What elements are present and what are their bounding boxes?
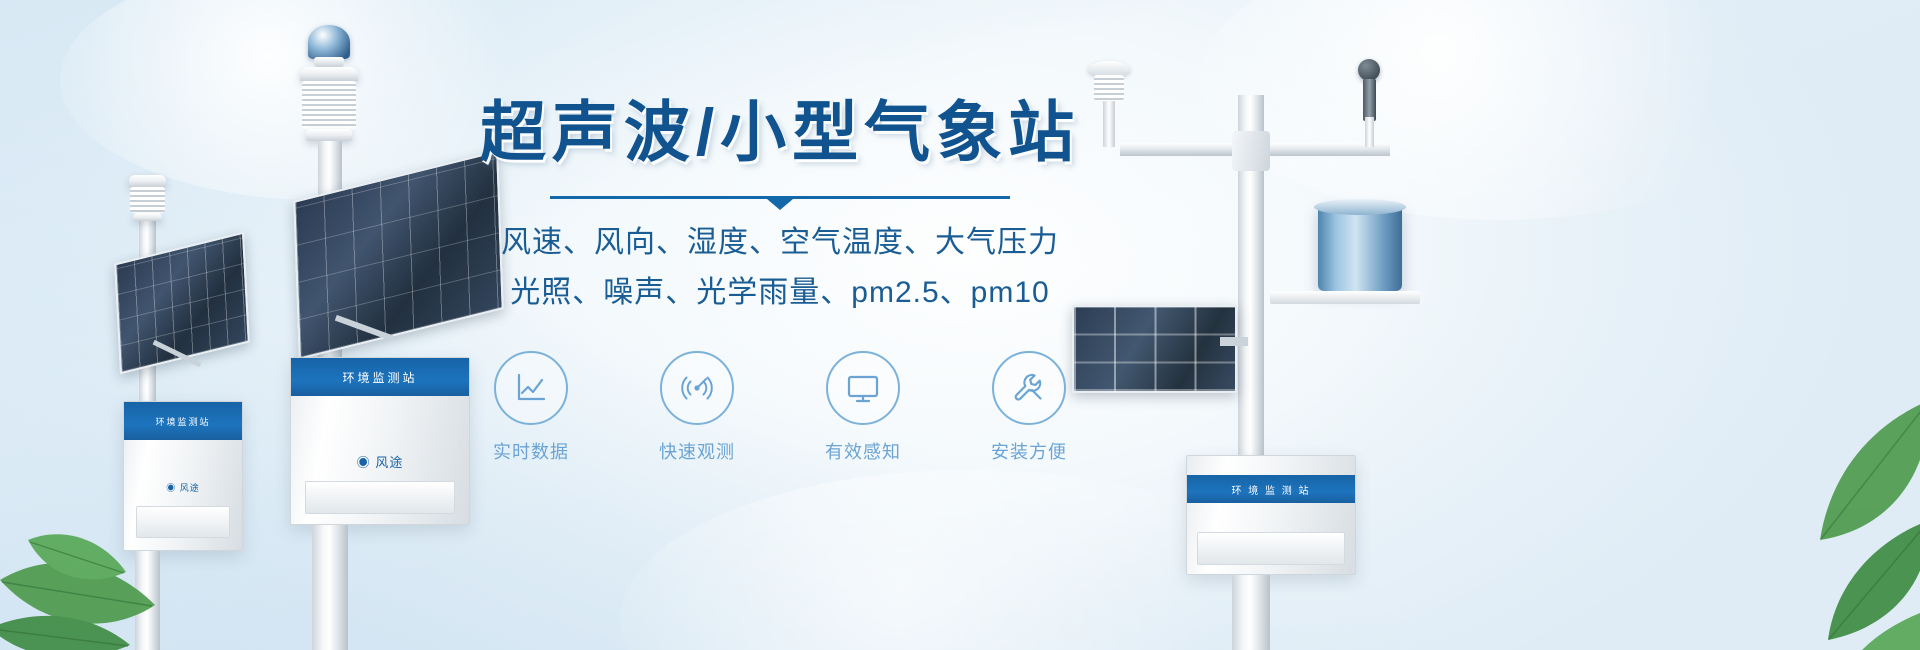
cabinet-label-text: 环境监测站	[155, 415, 210, 428]
radiation-shield-cap	[300, 67, 358, 81]
feature-list: 实时数据 快速观测	[430, 351, 1130, 464]
leaf-decoration-right	[1630, 370, 1920, 650]
chevron-down-triangle-icon	[767, 199, 793, 210]
feature-label: 安装方便	[974, 438, 1084, 464]
radiation-shield-louvers	[302, 81, 356, 129]
cabinet-lower-panel	[136, 506, 230, 539]
feature-label: 实时数据	[476, 438, 586, 464]
cabinet-enclosure: 环境监测站 ◉ 风途	[123, 401, 243, 551]
mast-foot	[312, 525, 348, 650]
radiation-shield-head	[129, 175, 166, 187]
product-banner: 环境监测站 ◉ 风途 环境监测站 ◉	[0, 0, 1920, 650]
feature-item-fast-observation[interactable]: 快速观测	[642, 351, 752, 464]
feature-item-easy-installation[interactable]: 安装方便	[974, 351, 1084, 464]
cabinet-label-text: 环 境 监 测 站	[1231, 482, 1310, 497]
feature-item-effective-sensing[interactable]: 有效感知	[808, 351, 918, 464]
radiation-shield-louvers	[130, 187, 165, 213]
cabinet-brand-logo: ◉ 风途	[124, 481, 242, 494]
rain-gauge-bucket	[1318, 205, 1402, 291]
mast-foot	[135, 551, 160, 650]
optical-rain-sensor-body	[1363, 79, 1376, 121]
feature-label: 快速观测	[642, 438, 752, 464]
feature-icon-circle	[660, 351, 734, 425]
ultrasonic-sensor-dome	[308, 25, 350, 59]
wrench-icon	[1009, 368, 1049, 408]
rain-gauge-platform	[1270, 291, 1420, 304]
cabinet-label-strip: 环 境 监 测 站	[1187, 475, 1355, 503]
feature-icon-circle	[494, 351, 568, 425]
cabinet-brand-text: 风途	[180, 483, 200, 493]
cabinet-label-text: 环境监测站	[342, 369, 417, 386]
cabinet-label-strip: 环境监测站	[124, 402, 242, 440]
mast-foot	[1232, 575, 1270, 650]
banner-subtitle-line-2: 光照、噪声、光学雨量、pm2.5、pm10	[430, 270, 1130, 317]
feature-item-realtime-data[interactable]: 实时数据	[476, 351, 586, 464]
cross-arm-joint	[1232, 131, 1270, 171]
banner-subtitle-line-1: 风速、风向、湿度、空气温度、大气压力	[430, 220, 1130, 267]
device-left-small-station: 环境监测站 ◉ 风途	[105, 175, 290, 650]
radar-wave-icon	[677, 368, 717, 408]
monitor-icon	[843, 368, 883, 408]
feature-icon-circle	[826, 351, 900, 425]
feature-icon-circle	[992, 351, 1066, 425]
cabinet-enclosure: 环 境 监 测 站	[1186, 455, 1356, 575]
brand-mark-icon: ◉	[166, 483, 176, 493]
feature-label: 有效感知	[808, 438, 918, 464]
cabinet-lower-panel	[1197, 532, 1345, 565]
optical-rain-sensor-stem	[1365, 117, 1374, 147]
solar-panel-mount	[1220, 337, 1248, 346]
rain-gauge-rim	[1314, 199, 1406, 215]
banner-title: 超声波/小型气象站	[430, 96, 1130, 170]
cabinet-brand-text: 风途	[375, 455, 403, 470]
radiation-shield-base	[133, 213, 162, 221]
brand-mark-icon: ◉	[357, 455, 371, 470]
ultrasonic-sensor-neck	[314, 57, 344, 67]
banner-content: 超声波/小型气象站 风速、风向、湿度、空气温度、大气压力 光照、噪声、光学雨量、…	[430, 96, 1130, 516]
optical-rain-sensor-head	[1358, 59, 1380, 81]
radiation-shield-base	[306, 129, 352, 141]
title-divider	[550, 196, 1010, 210]
line-chart-icon	[511, 368, 551, 408]
